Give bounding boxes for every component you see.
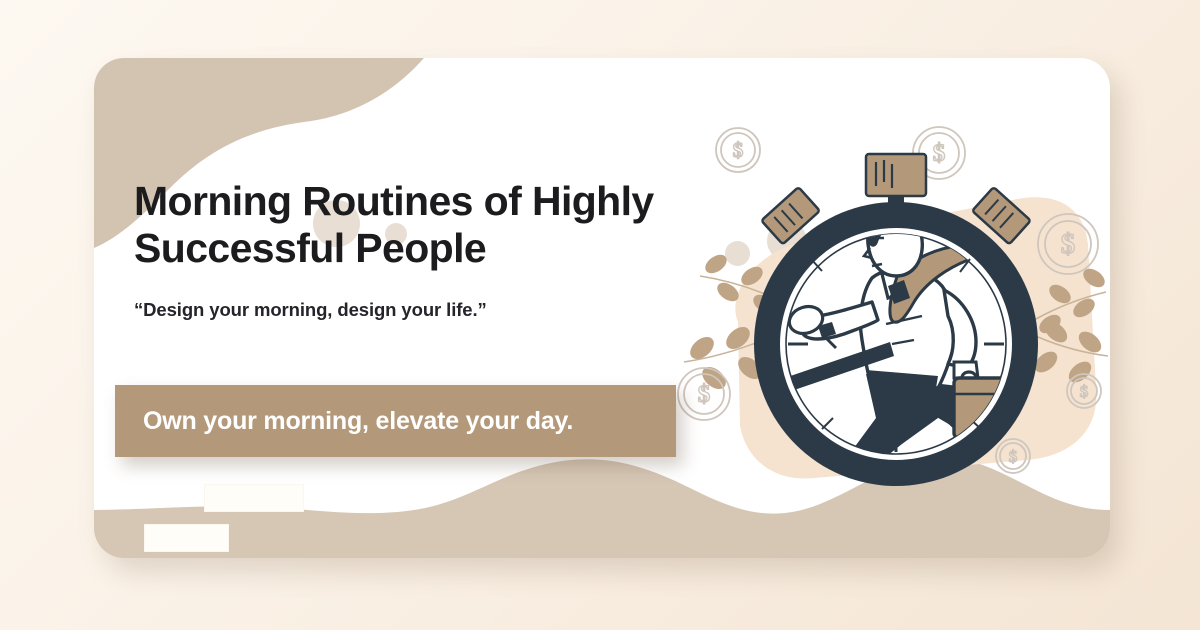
svg-text:$: $ [733, 138, 744, 162]
cta-banner-label: Own your morning, elevate your day. [143, 407, 573, 436]
svg-text:$: $ [698, 381, 711, 408]
svg-text:$: $ [1061, 228, 1076, 260]
placeholder-box-1 [204, 484, 304, 512]
svg-text:$: $ [1009, 447, 1018, 466]
page-title: Morning Routines of Highly Successful Pe… [134, 178, 674, 271]
placeholder-box-2 [144, 524, 229, 552]
dollar-coin-icon-1: $ [716, 128, 760, 172]
svg-text:$: $ [1080, 382, 1089, 401]
page-subtitle: “Design your morning, design your life.” [134, 299, 714, 321]
hero-card: $ $ $ $ $ $ [94, 58, 1110, 558]
cta-banner[interactable]: Own your morning, elevate your day. [115, 385, 676, 457]
svg-text:$: $ [933, 140, 946, 167]
stopwatch-illustration: $ $ $ $ $ $ [676, 126, 1110, 526]
hero-text-block: Morning Routines of Highly Successful Pe… [134, 178, 714, 321]
